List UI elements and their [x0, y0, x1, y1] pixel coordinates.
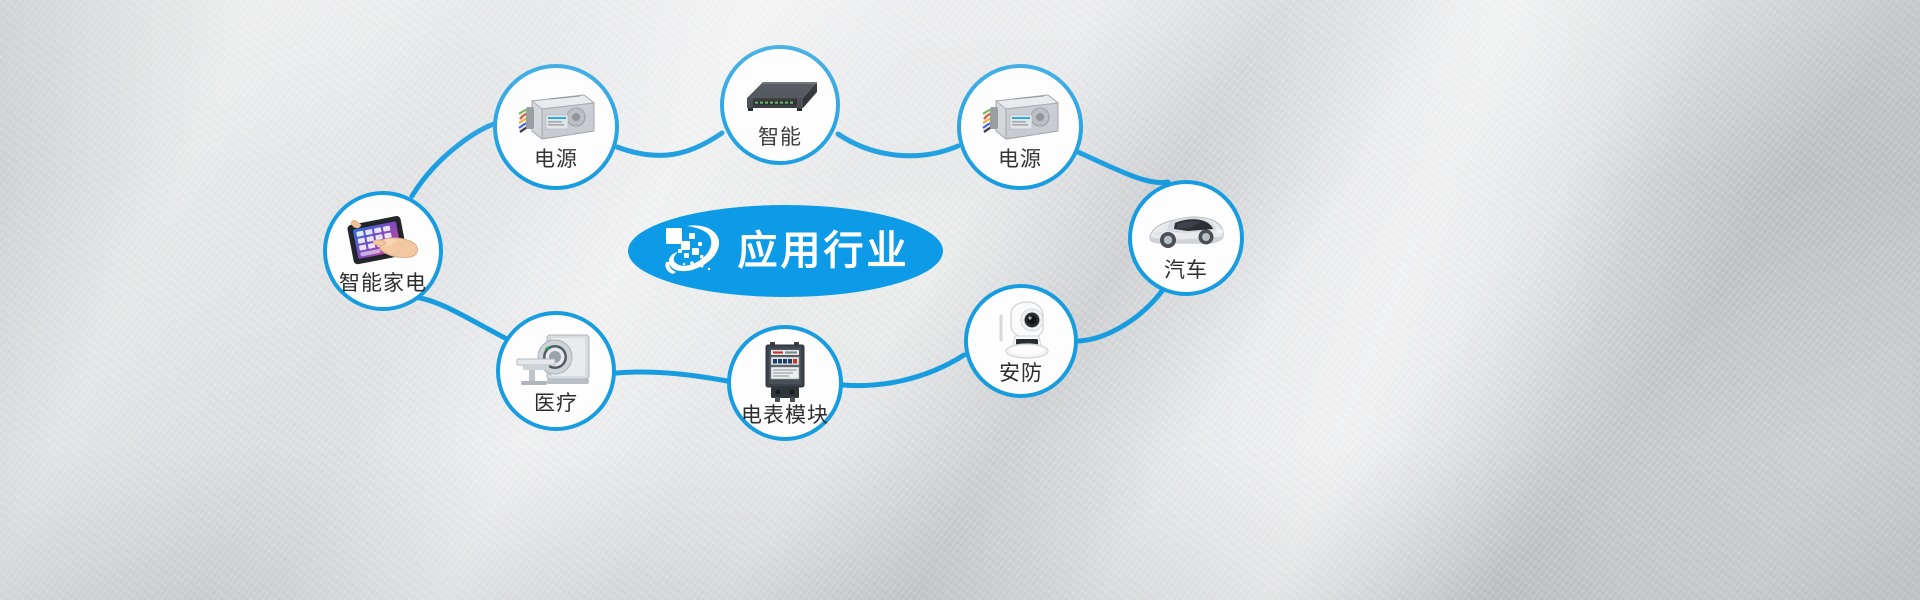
node-label: 安防: [999, 363, 1043, 384]
pc-power-supply-icon: [977, 85, 1063, 147]
node-power-supply-left[interactable]: 电源: [493, 64, 619, 190]
node-automotive[interactable]: 汽车: [1128, 180, 1244, 296]
orbit-pixel-logo-icon: [662, 222, 724, 280]
application-industries-banner: 电源: [0, 0, 1920, 600]
center-badge: 应用行业: [628, 205, 943, 297]
link-security-meter: [843, 355, 964, 386]
link-power1-smart: [617, 133, 722, 155]
node-power-supply-right[interactable]: 电源: [957, 64, 1083, 190]
node-medical[interactable]: 医疗: [496, 311, 616, 431]
rack-server-icon: [737, 63, 823, 125]
ct-scanner-icon: [513, 329, 599, 391]
ip-camera-icon: [978, 299, 1064, 361]
link-smart-power2: [838, 134, 958, 156]
link-smartappliance-power1: [412, 124, 497, 196]
node-label: 电源: [998, 149, 1042, 170]
node-smart[interactable]: 智能: [720, 45, 840, 165]
node-security[interactable]: 安防: [964, 284, 1078, 398]
link-meter-medical: [616, 372, 727, 381]
node-label: 汽车: [1164, 260, 1208, 281]
node-label: 医疗: [534, 393, 578, 414]
node-smart-appliance[interactable]: 智能家电: [323, 191, 443, 311]
node-label: 电表模块: [741, 405, 829, 426]
pc-power-supply-icon: [513, 85, 599, 147]
node-label: 智能家电: [339, 273, 427, 294]
link-medical-smartappliance: [414, 297, 505, 338]
node-label: 电源: [534, 149, 578, 170]
electricity-meter-icon: [742, 341, 828, 403]
connector-lines: [0, 0, 1920, 600]
touch-tablet-icon: [340, 209, 426, 271]
link-power2-automotive: [1078, 152, 1168, 183]
node-meter-module[interactable]: 电表模块: [727, 325, 843, 441]
sports-car-icon: [1143, 196, 1229, 258]
node-label: 智能: [758, 127, 802, 148]
badge-title: 应用行业: [738, 231, 910, 271]
link-automotive-security: [1078, 291, 1162, 341]
